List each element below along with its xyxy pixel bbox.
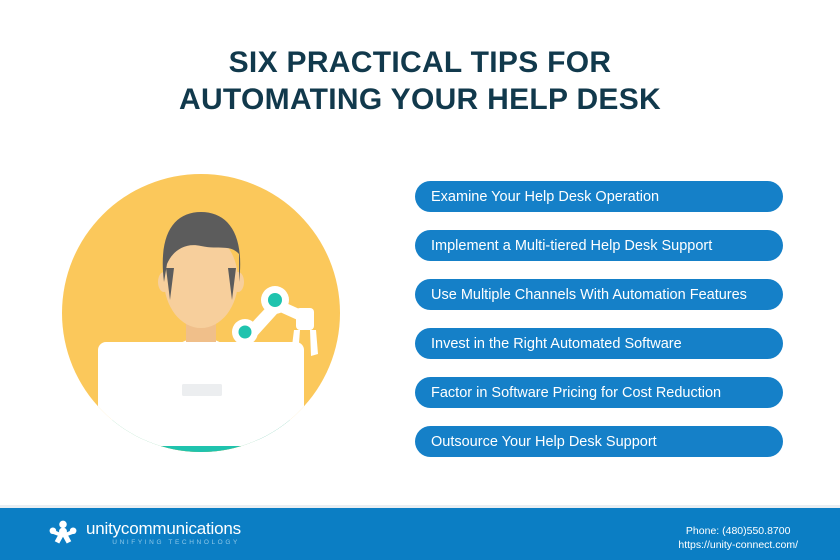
brand-wordmark: unitycommunications UNIFYING TECHNOLOGY: [86, 519, 241, 547]
laptop-screen-logo: [182, 384, 222, 396]
tips-list: Examine Your Help Desk Operation Impleme…: [415, 181, 783, 475]
illustration-graphic: [60, 172, 350, 472]
tip-item-4[interactable]: Invest in the Right Automated Software: [415, 328, 783, 359]
tip-item-1[interactable]: Examine Your Help Desk Operation: [415, 181, 783, 212]
tip-item-2[interactable]: Implement a Multi-tiered Help Desk Suppo…: [415, 230, 783, 261]
footer-bar: unitycommunications UNIFYING TECHNOLOGY …: [0, 508, 840, 560]
brand-logo[interactable]: unitycommunications UNIFYING TECHNOLOGY: [48, 518, 241, 548]
hand-right: [288, 418, 312, 468]
laptop-key-right: [268, 445, 290, 457]
tip-item-5[interactable]: Factor in Software Pricing for Cost Redu…: [415, 377, 783, 408]
page-title: SIX PRACTICAL TIPS FOR AUTOMATING YOUR H…: [0, 44, 840, 118]
laptop-base: [92, 454, 310, 470]
tip-label: Factor in Software Pricing for Cost Redu…: [415, 385, 721, 401]
robot-claw-right: [310, 330, 318, 356]
tip-label: Examine Your Help Desk Operation: [415, 189, 659, 205]
laptop: [90, 342, 312, 470]
tip-label: Outsource Your Help Desk Support: [415, 434, 657, 450]
hand-left: [90, 418, 114, 468]
footer-contact: Phone: (480)550.8700 https://unity-conne…: [678, 524, 798, 552]
title-line-2: AUTOMATING YOUR HELP DESK: [0, 81, 840, 118]
unity-star-icon: [48, 518, 78, 548]
robot-gear-lower: [239, 326, 252, 339]
laptop-key-left: [112, 445, 134, 457]
phone-number[interactable]: Phone: (480)550.8700: [678, 524, 798, 538]
brand-tagline: UNIFYING TECHNOLOGY: [86, 538, 241, 547]
robot-wrist: [296, 308, 314, 330]
tip-item-6[interactable]: Outsource Your Help Desk Support: [415, 426, 783, 457]
infographic-page: SIX PRACTICAL TIPS FOR AUTOMATING YOUR H…: [0, 0, 840, 560]
hero-illustration: [60, 172, 350, 472]
tip-label: Use Multiple Channels With Automation Fe…: [415, 287, 747, 303]
tip-label: Implement a Multi-tiered Help Desk Suppo…: [415, 238, 712, 254]
tip-item-3[interactable]: Use Multiple Channels With Automation Fe…: [415, 279, 783, 310]
laptop-keyboard: [126, 446, 274, 453]
website-url[interactable]: https://unity-connect.com/: [678, 538, 798, 552]
title-line-1: SIX PRACTICAL TIPS FOR: [0, 44, 840, 81]
brand-name: unitycommunications: [86, 519, 241, 538]
robot-gear-upper: [268, 293, 282, 307]
tip-label: Invest in the Right Automated Software: [415, 336, 682, 352]
